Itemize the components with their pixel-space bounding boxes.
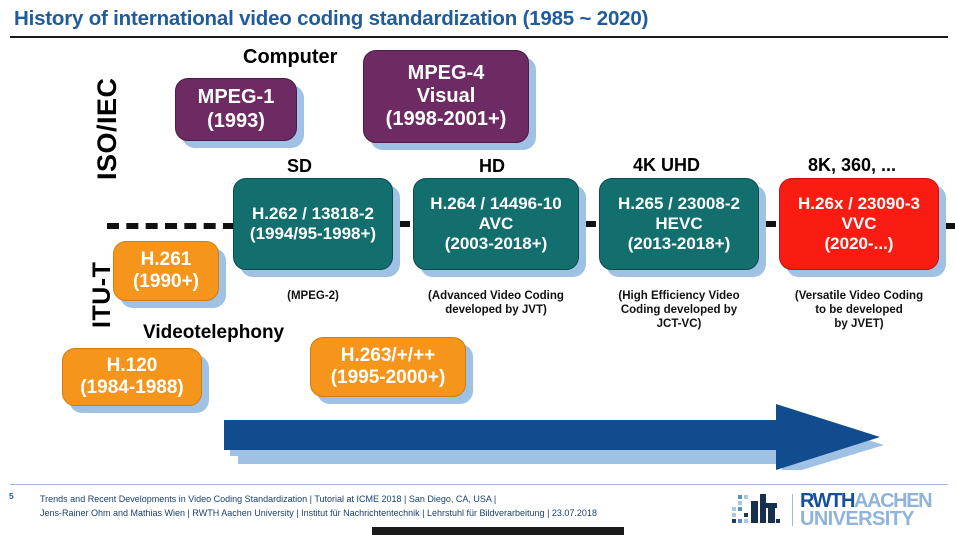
standard-box-h264-line-1: H.264 / 14496-10 (430, 194, 561, 214)
caption-hevc-line-2: Coding developed by (592, 303, 766, 317)
standard-box-h265-line-2: HEVC (655, 214, 702, 234)
standard-box-h263-line-1: H.263/+/++ (341, 345, 436, 367)
footer-line-2: Jens-Rainer Ohm and Mathias Wien | RWTH … (40, 507, 597, 521)
standard-box-mpeg4-line-3: (1998-2001+) (386, 108, 507, 131)
caption-mpeg2-line-1: (MPEG-2) (233, 289, 393, 303)
standard-box-h26x-vvc[interactable]: H.26x / 23090-3 VVC (2020-...) (779, 178, 939, 270)
standard-box-h262[interactable]: H.262 / 13818-2 (1994/95-1998+) (233, 178, 393, 270)
caption-vvc-line-1: (Versatile Video Coding (772, 289, 946, 303)
caption-hevc-line-3: JCT-VC) (592, 317, 766, 331)
page-number: 5 (9, 491, 14, 501)
standard-box-mpeg1-line-1: MPEG-1 (198, 86, 275, 109)
axis-label-iso-iec: ISO/IEC (92, 77, 123, 180)
standard-box-h120-line-1: H.120 (107, 355, 158, 377)
standard-box-h262-line-1: H.262 / 13818-2 (252, 204, 374, 224)
standard-box-h265-hevc[interactable]: H.265 / 23008-2 HEVC (2013-2018+) (599, 178, 759, 270)
title-divider (10, 36, 948, 38)
standard-box-h120[interactable]: H.120 (1984-1988) (62, 348, 202, 406)
heading-computer: Computer (243, 46, 337, 69)
standard-box-h262-line-2: (1994/95-1998+) (250, 224, 376, 244)
caption-hevc-line-1: (High Efficiency Video (592, 289, 766, 303)
standard-box-h261[interactable]: H.261 (1990+) (113, 241, 219, 301)
standard-box-h261-line-1: H.261 (141, 249, 192, 271)
rwth-logo-university: UNIVERSITY (800, 510, 931, 528)
caption-vvc-line-2: to be developed (772, 303, 946, 317)
caption-hevc: (High Efficiency Video Coding developed … (592, 289, 766, 331)
standard-box-mpeg4-line-2: Visual (417, 85, 476, 108)
page-title: History of international video coding st… (14, 7, 648, 31)
heading-hd: HD (479, 156, 505, 177)
bottom-black-bar (372, 527, 624, 535)
standard-box-h261-line-2: (1990+) (133, 271, 199, 293)
standard-box-h265-line-3: (2013-2018+) (628, 234, 731, 254)
standard-box-h265-line-1: H.265 / 23008-2 (618, 194, 740, 214)
caption-avc-line-2: developed by JVT) (406, 303, 586, 317)
footer-line-1: Trends and Recent Developments in Video … (40, 493, 597, 507)
logo-divider (792, 494, 793, 526)
timeline-dash-right (938, 223, 955, 229)
standard-box-h264-avc[interactable]: H.264 / 14496-10 AVC (2003-2018+) (413, 178, 579, 270)
standard-box-mpeg1-line-2: (1993) (207, 110, 265, 133)
ient-logo-icon (730, 492, 788, 528)
standard-box-h264-line-2: AVC (479, 214, 514, 234)
standard-box-mpeg4-visual[interactable]: MPEG-4 Visual (1998-2001+) (363, 50, 529, 143)
caption-avc-line-1: (Advanced Video Coding (406, 289, 586, 303)
heading-8k-360: 8K, 360, ... (808, 155, 896, 176)
caption-mpeg2: (MPEG-2) (233, 289, 393, 303)
standard-box-h263[interactable]: H.263/+/++ (1995-2000+) (310, 337, 466, 397)
caption-vvc-line-3: by JVET) (772, 317, 946, 331)
standard-box-h263-line-2: (1995-2000+) (331, 367, 446, 389)
heading-videotelephony: Videotelephony (143, 322, 284, 344)
footer-text: Trends and Recent Developments in Video … (40, 493, 597, 521)
heading-4k-uhd: 4K UHD (633, 155, 700, 176)
standard-box-mpeg4-line-1: MPEG-4 (408, 62, 485, 85)
connector-h265-h26x (762, 221, 776, 227)
standard-box-h264-line-3: (2003-2018+) (445, 234, 548, 254)
rwth-aachen-university-logo: RWTHAACHEN UNIVERSITY (800, 492, 931, 529)
standard-box-h26x-line-3: (2020-...) (825, 234, 894, 254)
heading-sd: SD (287, 156, 312, 177)
timeline-dashed-line-left (107, 223, 235, 229)
caption-avc: (Advanced Video Coding developed by JVT) (406, 289, 586, 317)
timeline-arrow-icon (220, 398, 892, 470)
slide-canvas: History of international video coding st… (0, 0, 955, 535)
connector-h262-h264 (396, 221, 410, 227)
standard-box-h26x-line-2: VVC (842, 214, 877, 234)
standard-box-mpeg1[interactable]: MPEG-1 (1993) (175, 78, 297, 141)
standard-box-h120-line-2: (1984-1988) (80, 377, 184, 399)
standard-box-h26x-line-1: H.26x / 23090-3 (798, 194, 920, 214)
footer-divider (10, 484, 948, 485)
caption-vvc: (Versatile Video Coding to be developed … (772, 289, 946, 331)
connector-h264-h265 (582, 221, 596, 227)
